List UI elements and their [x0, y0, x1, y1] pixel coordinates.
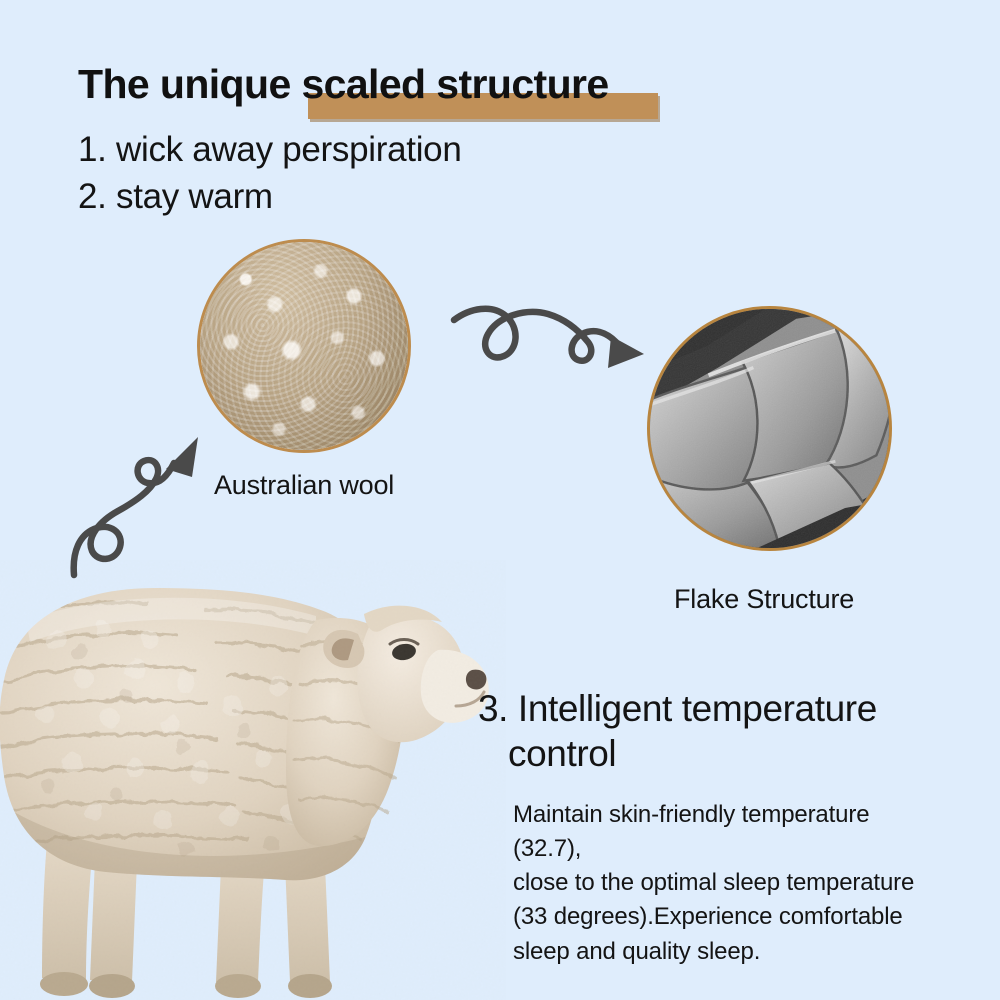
- australian-wool-photo: [197, 239, 411, 453]
- benefit-item-1: 1. wick away perspiration: [78, 127, 462, 174]
- flake-structure-caption: Flake Structure: [674, 584, 854, 615]
- temperature-heading-line1: 3. Intelligent temperature: [478, 688, 877, 729]
- page-title: The unique scaled structure: [78, 64, 609, 105]
- benefit-item-2: 2. stay warm: [78, 174, 462, 221]
- temperature-body-line: Maintain skin-friendly temperature (32.7…: [513, 798, 940, 866]
- temperature-body-line: sleep and quality sleep.: [513, 935, 940, 969]
- flake-texture: [650, 309, 889, 548]
- temperature-body-line: close to the optimal sleep temperature: [513, 866, 940, 900]
- temperature-body-line: (33 degrees).Experience comfortable: [513, 900, 940, 934]
- australian-wool-caption: Australian wool: [214, 470, 394, 501]
- temperature-section: 3. Intelligent temperature control Maint…: [478, 686, 940, 969]
- curly-arrow-up-icon: [62, 425, 212, 585]
- wool-texture: [200, 242, 408, 450]
- infographic-page: The unique scaled structure 1. wick away…: [0, 0, 1000, 1000]
- temperature-heading: 3. Intelligent temperature control: [478, 686, 940, 776]
- temperature-body: Maintain skin-friendly temperature (32.7…: [513, 798, 940, 968]
- flake-structure-photo: [647, 306, 892, 551]
- curly-arrow-right-icon: [448, 298, 658, 378]
- sem-micrograph-graphic: [650, 309, 889, 548]
- temperature-heading-line2: control: [478, 731, 940, 776]
- benefit-list: 1. wick away perspiration 2. stay warm: [78, 127, 462, 220]
